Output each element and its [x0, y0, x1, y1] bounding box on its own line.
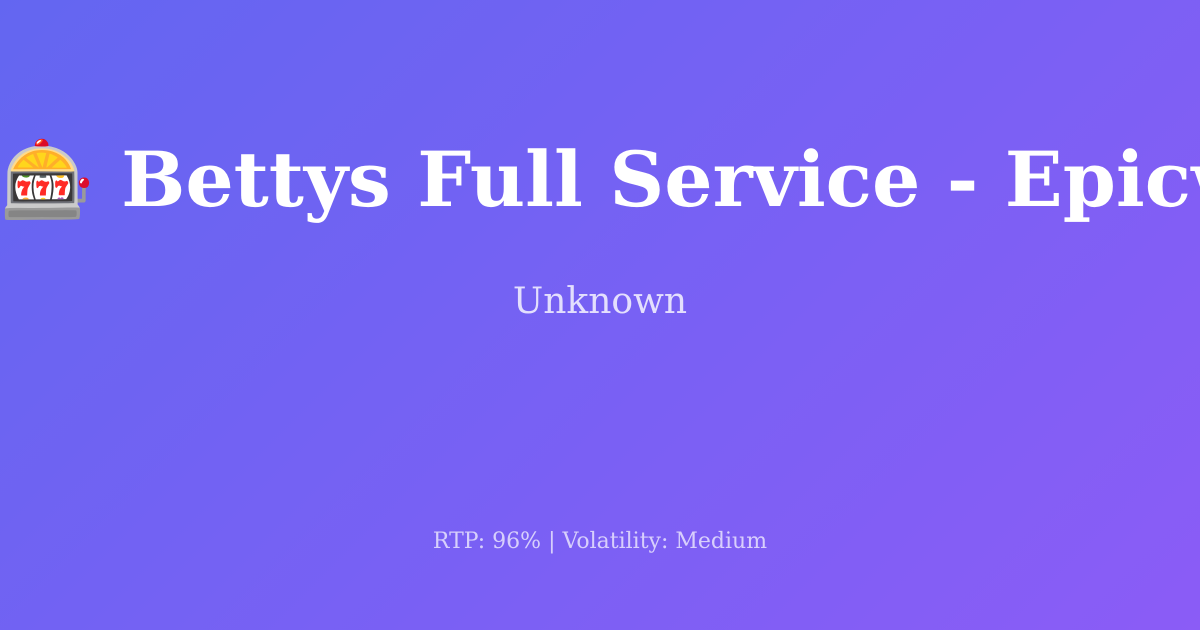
card-header-block: 🎰 Bettys Full Service - Epicways Unknown [0, 0, 1200, 460]
card-subtitle: Unknown [0, 280, 1200, 323]
page-title: 🎰 Bettys Full Service - Epicways [0, 137, 1200, 222]
game-meta-line: RTP: 96% | Volatility: Medium [0, 528, 1200, 557]
og-share-card: 🎰 Bettys Full Service - Epicways Unknown… [0, 0, 1200, 630]
